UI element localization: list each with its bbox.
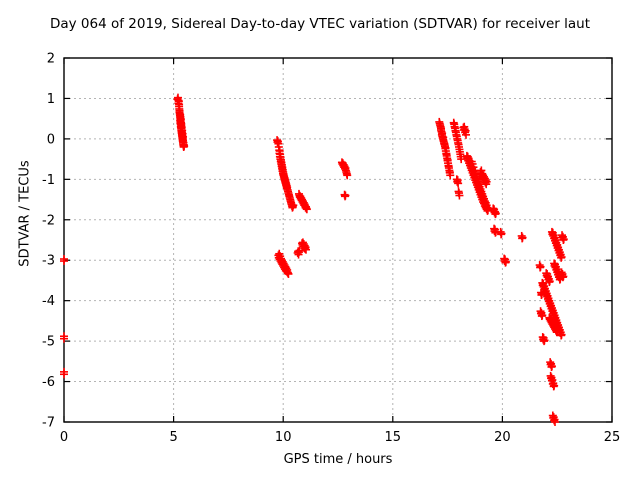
data-point: [537, 263, 545, 271]
plot-canvas: 0510152025210-1-2-3-4-5-6-7: [0, 0, 640, 480]
svg-text:5: 5: [169, 430, 177, 445]
data-point: [341, 192, 349, 200]
svg-text:2: 2: [47, 52, 55, 67]
svg-text:0: 0: [47, 132, 55, 147]
plot-frame: [64, 58, 612, 422]
svg-text:-7: -7: [42, 416, 55, 431]
svg-text:-2: -2: [42, 213, 55, 228]
svg-text:-5: -5: [42, 335, 55, 350]
svg-text:15: 15: [385, 430, 402, 445]
svg-text:-6: -6: [42, 375, 55, 390]
svg-text:-4: -4: [42, 294, 55, 309]
svg-text:0: 0: [60, 430, 68, 445]
axis-tick-labels: 0510152025210-1-2-3-4-5-6-7: [42, 52, 620, 446]
svg-text:25: 25: [604, 430, 621, 445]
chart-container: Day 064 of 2019, Sidereal Day-to-day VTE…: [0, 0, 640, 480]
svg-text:-3: -3: [42, 254, 55, 269]
svg-text:-1: -1: [42, 173, 55, 188]
svg-text:20: 20: [494, 430, 511, 445]
svg-text:10: 10: [275, 430, 292, 445]
data-point: [498, 230, 506, 238]
gridlines: [64, 58, 612, 422]
data-point: [519, 234, 527, 242]
svg-text:1: 1: [47, 92, 55, 107]
axis-ticks: [64, 58, 612, 422]
data-points-layer: [60, 94, 568, 426]
